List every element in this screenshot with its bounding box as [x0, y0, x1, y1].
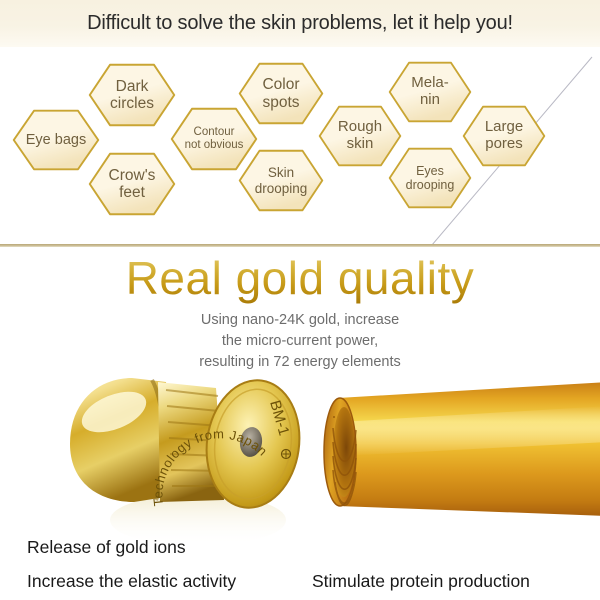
hex-problem-eye-bags[interactable]: Eye bags [12, 109, 100, 171]
caption-gold-ions: Release of gold ions [27, 537, 186, 558]
hex-problem-label: Eyesdrooping [406, 164, 455, 192]
headline-text: Difficult to solve the skin problems, le… [87, 12, 513, 35]
product-tube-photo [298, 376, 600, 536]
headline-banner: Difficult to solve the skin problems, le… [0, 0, 600, 47]
hex-problem-label: Darkcircles [110, 78, 154, 113]
hex-problem-label: Colorspots [262, 76, 299, 111]
hex-problem-crow-s-feet[interactable]: Crow'sfeet [88, 152, 176, 216]
hex-problem-label: Eye bags [26, 132, 86, 148]
hex-problem-label: Crow'sfeet [109, 167, 156, 202]
hex-problem-mela-nin[interactable]: Mela-nin [388, 61, 472, 123]
hex-problem-label: Mela-nin [411, 75, 449, 109]
skin-problem-hex-cluster: Eye bagsDarkcirclesCrow'sfeetContournot … [0, 47, 600, 245]
subtitle-line-3: resulting in 72 energy elements [0, 354, 600, 370]
subtitle-line-2: the micro-current power, [0, 333, 600, 349]
hex-problem-label: Roughskin [338, 119, 382, 153]
hex-problem-color-spots[interactable]: Colorspots [238, 62, 324, 125]
hex-problem-label: Skindrooping [255, 165, 308, 195]
hex-problem-skin-drooping[interactable]: Skindrooping [238, 149, 324, 212]
hex-problem-label: Largepores [485, 119, 523, 153]
caption-elastic-activity: Increase the elastic activity [27, 571, 236, 592]
caption-protein-production: Stimulate protein production [312, 571, 530, 592]
hex-problem-dark-circles[interactable]: Darkcircles [88, 63, 176, 127]
benefit-caption-area: Release of gold ions Increase the elasti… [0, 530, 600, 600]
subtitle-line-1: Using nano-24K gold, increase [0, 312, 600, 328]
product-photo-area: Technology from Japan BM-1 [0, 372, 600, 544]
gold-quality-section: Real gold quality Using nano-24K gold, i… [0, 247, 600, 375]
hex-problem-eyes-drooping[interactable]: Eyesdrooping [388, 147, 472, 209]
gold-quality-title: Real gold quality [126, 251, 475, 305]
hex-problem-label: Contournot obvious [185, 126, 244, 152]
hex-problem-large-pores[interactable]: Largepores [462, 105, 546, 167]
